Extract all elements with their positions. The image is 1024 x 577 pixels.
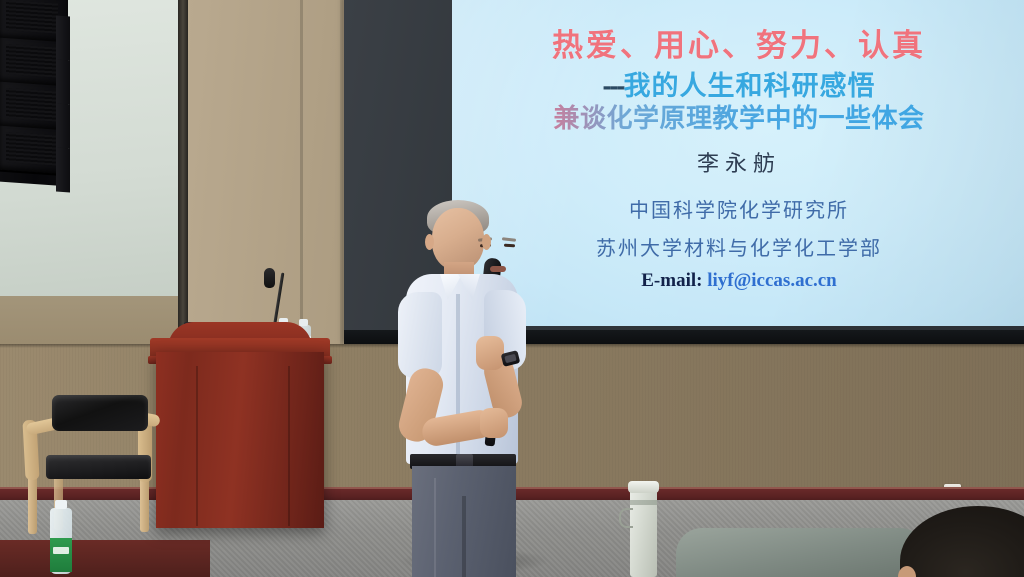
presenter-ear	[425, 234, 434, 250]
line-array-speaker-stack	[0, 0, 68, 186]
slide-title-line1: 热爱、用心、努力、认真	[452, 20, 1024, 65]
lecture-hall-photo: 热爱、用心、努力、认真 ---我的人生和科研感悟 兼谈化学原理教学中的一些体会 …	[0, 0, 1024, 577]
presenter-hand-holding-mic	[476, 336, 504, 370]
podium-panel-line	[196, 366, 198, 526]
wall-seam	[300, 0, 303, 348]
presenter-hand-left	[480, 408, 508, 438]
slide-speaker-name: 李永舫	[452, 146, 1024, 178]
wall-mid-panel	[188, 0, 358, 348]
slide-subtitle-line3: 兼谈化学原理教学中的一些体会	[452, 98, 1024, 135]
presenter	[392, 196, 542, 577]
subtitle-dash: ---	[603, 71, 624, 101]
wall-seam	[340, 0, 343, 348]
vacuum-flask-cap	[628, 481, 659, 493]
podium	[156, 352, 324, 528]
podium-panel-line	[288, 366, 290, 526]
presenter-head	[432, 208, 484, 270]
vacuum-flask-handle	[619, 508, 633, 528]
shirt-sleeve-left	[398, 292, 442, 378]
gooseneck-microphone-head	[264, 268, 275, 288]
floor-wood-strip	[0, 540, 210, 577]
foreground-chair-back	[676, 528, 926, 577]
presenter-eye	[504, 244, 515, 248]
email-address: liyf@iccas.ac.cn	[707, 270, 837, 291]
wall-dark-reveal-strip	[178, 0, 188, 348]
chair-backrest	[52, 395, 148, 431]
water-bottle-floor	[50, 508, 72, 574]
presenter-mouth	[490, 266, 506, 272]
chair-seat	[46, 455, 151, 479]
trouser-seam	[462, 496, 466, 577]
presenter-ear	[482, 234, 491, 250]
vacuum-flask-band	[630, 500, 657, 505]
trouser-crease	[434, 478, 436, 577]
email-label: E-mail:	[641, 270, 702, 291]
subtitle-line2-text: 我的人生和科研感悟	[623, 71, 875, 101]
